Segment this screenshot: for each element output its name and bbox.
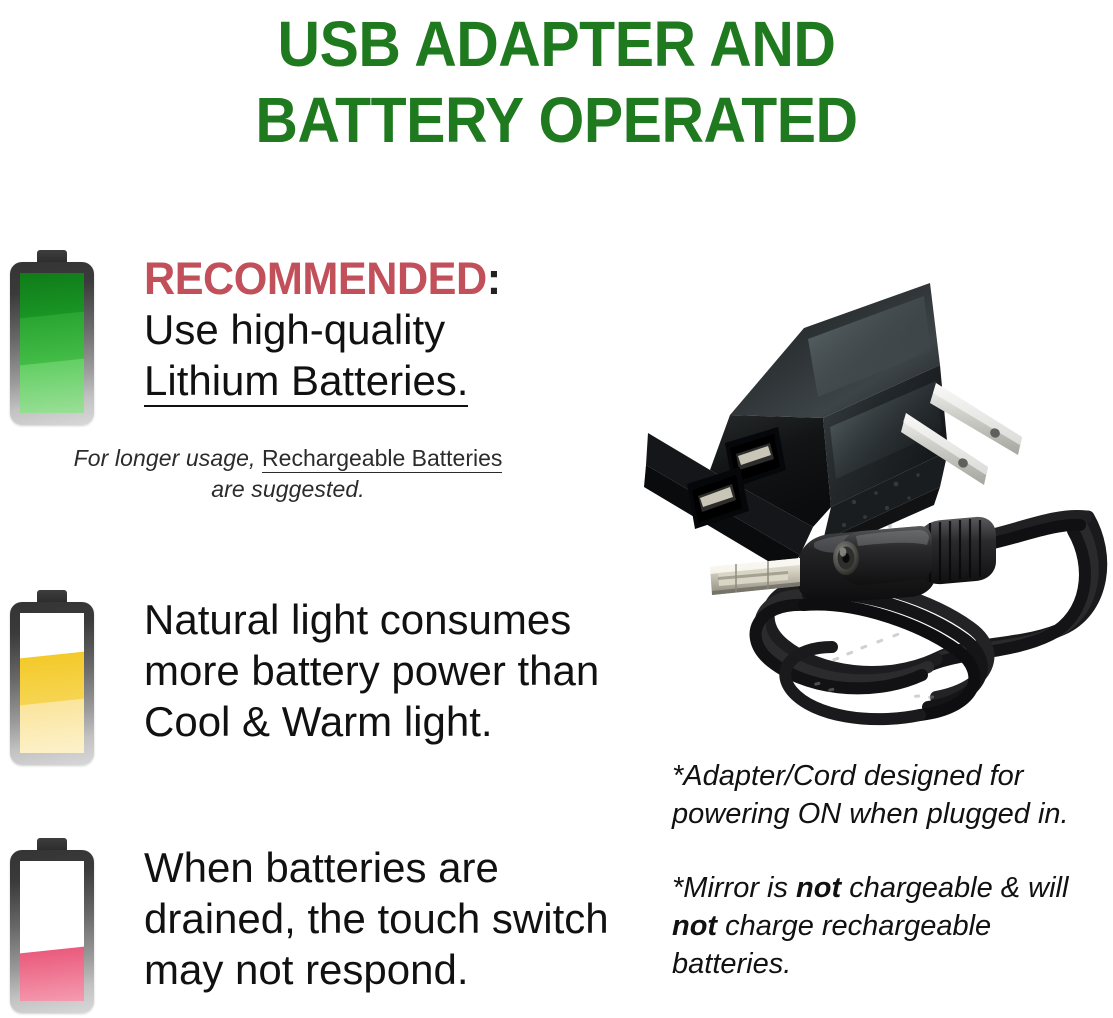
feature-row-recommended: RECOMMENDED: Use high-quality Lithium Ba… — [6, 250, 631, 425]
page-title: USB ADAPTER AND BATTERY OPERATED — [0, 6, 1113, 158]
feature-row-drained-text: When batteries are drained, the touch sw… — [144, 838, 609, 995]
feature-row-natural-light: Natural light consumes more battery powe… — [6, 590, 631, 765]
feature-row-natural-light-text: Natural light consumes more battery powe… — [144, 590, 599, 747]
title-line-1: USB ADAPTER AND — [45, 6, 1069, 82]
battery-shell — [10, 602, 94, 765]
adapter-notes: *Adapter/Cord designed for powering ON w… — [672, 757, 1107, 983]
battery-window — [20, 861, 84, 1001]
subnote-suffix: are suggested. — [211, 476, 365, 502]
subnote-emphasis: Rechargeable Batteries — [262, 445, 502, 473]
drained-line-3: may not respond. — [144, 944, 609, 995]
title-line-2: BATTERY OPERATED — [45, 82, 1069, 158]
recommended-heading: RECOMMENDED: — [144, 254, 501, 304]
battery-shell — [10, 262, 94, 425]
recommended-line-2: Lithium Batteries. — [144, 355, 516, 406]
battery-full-green-icon — [6, 250, 98, 425]
drained-line-1: When batteries are — [144, 842, 609, 893]
usb-wall-adapter-and-cable-photo — [618, 255, 1113, 745]
battery-segment-bottom — [20, 707, 84, 753]
rechargeable-subnote: For longer usage, Rechargeable Batteries… — [38, 443, 538, 505]
feature-row-recommended-text: RECOMMENDED: Use high-quality Lithium Ba… — [144, 250, 516, 406]
battery-segment-bottom — [20, 955, 84, 1001]
natural-light-line-3: Cool & Warm light. — [144, 696, 599, 747]
natural-light-line-1: Natural light consumes — [144, 594, 599, 645]
natural-light-line-2: more battery power than — [144, 645, 599, 696]
feature-row-drained: When batteries are drained, the touch sw… — [6, 838, 631, 1013]
battery-window — [20, 273, 84, 413]
battery-segment-bottom — [20, 367, 84, 413]
battery-shell — [10, 850, 94, 1013]
note-adapter-power: *Adapter/Cord designed for powering ON w… — [672, 757, 1107, 833]
infographic-page: USB ADAPTER AND BATTERY OPERATED RECOMME… — [0, 0, 1113, 1018]
battery-window — [20, 613, 84, 753]
drained-line-2: drained, the touch switch — [144, 893, 609, 944]
battery-two-thirds-yellow-icon — [6, 590, 98, 765]
note-mirror-not-chargeable: *Mirror is not chargeable & will not cha… — [672, 869, 1107, 983]
battery-low-pink-icon — [6, 838, 98, 1013]
recommended-line-1: Use high-quality — [144, 304, 516, 355]
subnote-prefix: For longer usage, — [74, 445, 262, 471]
